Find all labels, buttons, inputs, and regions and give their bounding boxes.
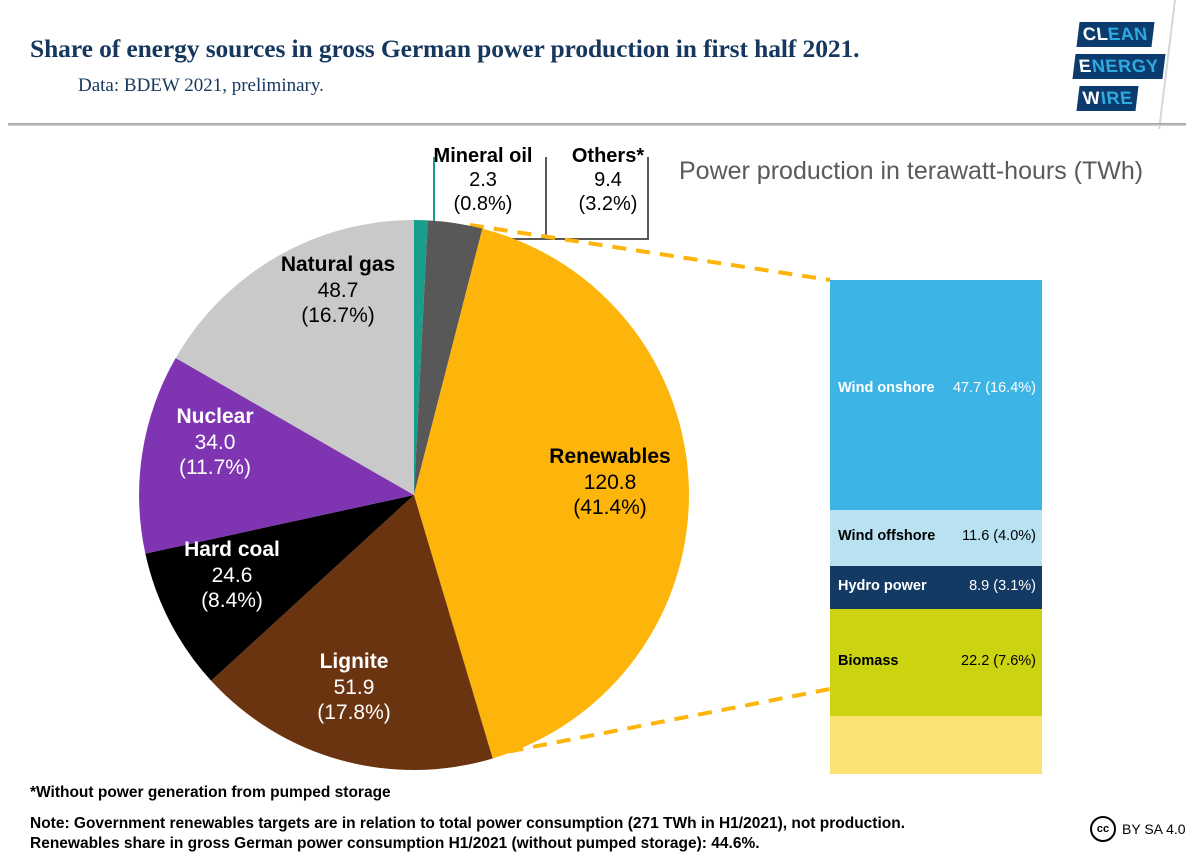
footnote-asterisk: *Without power generation from pumped st… bbox=[30, 784, 391, 802]
page-title: Share of energy sources in gross German … bbox=[30, 34, 859, 64]
footnote-note-line1: Note: Government renewables targets are … bbox=[30, 815, 905, 833]
cc-icon: cc bbox=[1090, 816, 1116, 842]
renewables-breakdown-bar: Wind onshore 47.7 (16.4%) Wind offshore … bbox=[830, 280, 1042, 831]
logo-energy-cyan: NERGY bbox=[1090, 54, 1160, 79]
pie-label-nuclear: Nuclear 34.0 (11.7%) bbox=[140, 404, 290, 481]
bar-segment-biomass[interactable]: Biomass 22.2 (7.6%) bbox=[830, 609, 1042, 716]
pie-label-natural-gas: Natural gas 48.7 (16.7%) bbox=[243, 252, 433, 329]
pie-label-hard-coal: Hard coal 24.6 (8.4%) bbox=[152, 537, 312, 614]
pie-label-lignite: Lignite 51.9 (17.8%) bbox=[278, 649, 430, 726]
creative-commons-license: cc BY SA 4.0 bbox=[1090, 816, 1186, 842]
logo-line-wire: WIRE bbox=[1076, 86, 1138, 111]
clean-energy-wire-logo: CLEAN ENERGY WIRE bbox=[1074, 22, 1174, 114]
footer-notes: *Without power generation from pumped st… bbox=[0, 774, 1200, 848]
callout-mineral-oil: Mineral oil 2.3 (0.8%) bbox=[418, 144, 548, 216]
header-bar: Share of energy sources in gross German … bbox=[0, 0, 1200, 126]
bar-segment-wind-offshore[interactable]: Wind offshore 11.6 (4.0%) bbox=[830, 510, 1042, 566]
panel-heading: Power production in terawatt-hours (TWh) bbox=[679, 157, 1143, 186]
page-subtitle: Data: BDEW 2021, preliminary. bbox=[78, 75, 324, 97]
bar-segment-wind-onshore[interactable]: Wind onshore 47.7 (16.4%) bbox=[830, 280, 1042, 510]
chart-area: Natural gas 48.7 (16.7%) Nuclear 34.0 (1… bbox=[0, 129, 1200, 774]
logo-wire-cyan: IRE bbox=[1099, 86, 1134, 111]
pie-label-renewables: Renewables 120.8 (41.4%) bbox=[508, 444, 712, 521]
callout-others: Others* 9.4 (3.2%) bbox=[548, 144, 668, 216]
footnote-note-line2: Renewables share in gross German power c… bbox=[30, 835, 760, 853]
logo-clean-cyan: EAN bbox=[1107, 22, 1150, 47]
bar-segment-hydro-power[interactable]: Hydro power 8.9 (3.1%) bbox=[830, 566, 1042, 609]
cc-license-text: BY SA 4.0 bbox=[1122, 821, 1186, 837]
logo-line-clean: CLEAN bbox=[1076, 22, 1154, 47]
logo-clean-white: CL bbox=[1081, 22, 1109, 47]
infographic-canvas: Share of energy sources in gross German … bbox=[0, 0, 1200, 848]
logo-line-energy: ENERGY bbox=[1072, 54, 1165, 79]
